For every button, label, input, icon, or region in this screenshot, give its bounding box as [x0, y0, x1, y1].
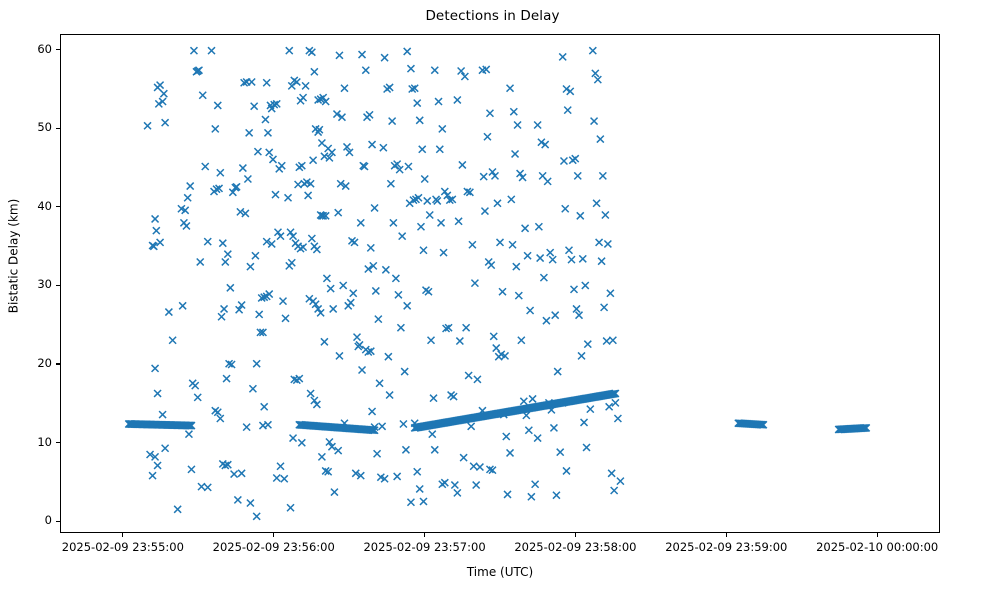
scatter-marker	[254, 148, 261, 155]
scatter-marker	[288, 259, 295, 266]
scatter-marker	[157, 239, 164, 246]
scatter-marker	[454, 489, 461, 496]
scatter-marker	[494, 200, 501, 207]
scatter-marker	[184, 194, 191, 201]
scatter-marker	[401, 368, 408, 375]
figure-canvas: Detections in Delay Bistatic Delay (km) …	[0, 0, 985, 590]
scatter-marker	[596, 239, 603, 246]
scatter-marker	[251, 103, 258, 110]
scatter-marker	[534, 435, 541, 442]
scatter-marker	[414, 468, 421, 475]
scatter-marker	[369, 141, 376, 148]
x-tick-mark	[877, 533, 878, 537]
scatter-marker	[323, 275, 330, 282]
scatter-marker	[280, 298, 287, 305]
scatter-marker	[272, 191, 279, 198]
scatter-marker	[612, 399, 619, 406]
scatter-marker	[295, 181, 302, 188]
scatter-marker	[399, 233, 406, 240]
scatter-marker	[253, 360, 260, 367]
scatter-marker	[385, 353, 392, 360]
scatter-marker	[395, 291, 402, 298]
scatter-marker	[611, 487, 618, 494]
scatter-marker	[509, 241, 516, 248]
scatter-marker	[481, 208, 488, 215]
scatter-marker	[157, 82, 164, 89]
scatter-marker	[227, 284, 234, 291]
scatter-marker	[389, 118, 396, 125]
scatter-marker	[430, 395, 437, 402]
scatter-marker	[277, 463, 284, 470]
scatter-marker	[471, 280, 478, 287]
scatter-marker	[252, 252, 259, 259]
scatter-marker	[537, 255, 544, 262]
scatter-marker	[598, 258, 605, 265]
scatter-marker	[149, 472, 156, 479]
scatter-marker	[315, 129, 322, 136]
scatter-marker	[223, 375, 230, 382]
scatter-marker	[425, 288, 432, 295]
scatter-marker	[243, 424, 250, 431]
scatter-marker	[154, 462, 161, 469]
x-tick-label: 2025-02-09 23:55:00	[62, 540, 184, 554]
scatter-marker	[565, 247, 572, 254]
scatter-marker	[608, 470, 615, 477]
scatter-marker	[583, 444, 590, 451]
scatter-marker	[436, 146, 443, 153]
scatter-marker	[484, 133, 491, 140]
y-tick-label: 40	[37, 199, 52, 213]
scatter-marker	[392, 275, 399, 282]
scatter-marker	[248, 78, 255, 85]
scatter-marker	[351, 239, 358, 246]
scatter-marker	[528, 493, 535, 500]
scatter-marker	[476, 464, 483, 471]
scatter-marker	[414, 100, 421, 107]
scatter-marker	[602, 212, 609, 219]
x-tick-label: 2025-02-09 23:57:00	[363, 540, 485, 554]
scatter-marker	[198, 483, 205, 490]
scatter-marker	[185, 431, 192, 438]
scatter-marker	[239, 165, 246, 172]
scatter-marker	[369, 408, 376, 415]
scatter-marker	[405, 163, 412, 170]
scatter-marker	[470, 463, 477, 470]
scatter-marker	[407, 499, 414, 506]
scatter-marker	[507, 449, 514, 456]
scatter-marker	[347, 299, 354, 306]
scatter-marker	[331, 489, 338, 496]
y-tick-label: 60	[37, 42, 52, 56]
scatter-marker	[359, 366, 366, 373]
scatter-marker	[493, 345, 500, 352]
scatter-marker	[473, 482, 480, 489]
scatter-marker	[153, 227, 160, 234]
scatter-marker	[552, 312, 559, 319]
scatter-marker	[298, 162, 305, 169]
scatter-marker	[386, 392, 393, 399]
scatter-marker	[244, 176, 251, 183]
scatter-marker	[604, 240, 611, 247]
scatter-marker	[499, 288, 506, 295]
scatter-marker	[354, 334, 361, 341]
scatter-marker	[424, 197, 431, 204]
scatter-marker	[217, 169, 224, 176]
scatter-marker	[364, 114, 371, 121]
x-tick-mark	[122, 533, 123, 537]
scatter-marker	[520, 398, 527, 405]
scatter-marker	[217, 415, 224, 422]
scatter-marker	[486, 110, 493, 117]
scatter-marker	[269, 156, 276, 163]
scatter-marker	[387, 180, 394, 187]
scatter-marker	[282, 315, 289, 322]
scatter-marker	[192, 382, 199, 389]
scatter-marker	[154, 390, 161, 397]
scatter-marker	[463, 324, 470, 331]
scatter-marker	[564, 107, 571, 114]
scatter-marker	[540, 274, 547, 281]
scatter-marker	[379, 423, 386, 430]
scatter-marker	[560, 158, 567, 165]
y-tick-label: 10	[37, 435, 52, 449]
scatter-marker	[440, 249, 447, 256]
scatter-marker	[152, 365, 159, 372]
scatter-marker	[404, 48, 411, 55]
scatter-marker	[553, 492, 560, 499]
scatter-marker	[384, 86, 391, 93]
scatter-marker	[214, 102, 221, 109]
scatter-marker	[400, 421, 407, 428]
scatter-marker	[591, 118, 598, 125]
scatter-marker	[451, 482, 458, 489]
scatter-marker	[497, 239, 504, 246]
scatter-marker	[222, 258, 229, 265]
scatter-marker	[407, 65, 414, 72]
scatter-marker	[534, 122, 541, 129]
scatter-marker	[404, 302, 411, 309]
scatter-marker	[504, 491, 511, 498]
scatter-marker	[601, 304, 608, 311]
scatter-marker	[527, 307, 534, 314]
scatter-marker	[197, 258, 204, 265]
scatter-marker	[212, 125, 219, 132]
scatter-marker	[165, 309, 172, 316]
scatter-marker	[529, 395, 536, 402]
scatter-marker	[350, 290, 357, 297]
scatter-marker	[214, 409, 221, 416]
scatter-marker	[246, 129, 253, 136]
x-tick-label: 2025-02-09 23:56:00	[213, 540, 335, 554]
scatter-marker	[428, 337, 435, 344]
x-tick-mark	[726, 533, 727, 537]
scatter-marker	[183, 222, 190, 229]
scatter-marker	[480, 173, 487, 180]
scatter-marker	[568, 256, 575, 263]
scatter-marker	[603, 338, 610, 345]
scatter-marker	[302, 82, 309, 89]
scatter-marker	[238, 470, 245, 477]
scatter-marker	[266, 149, 273, 156]
scatter-marker	[187, 183, 194, 190]
scatter-marker	[431, 446, 438, 453]
scatter-marker	[420, 498, 427, 505]
scatter-marker	[503, 433, 510, 440]
scatter-marker	[578, 352, 585, 359]
y-axis-ticks: 0102030405060	[0, 34, 60, 533]
scatter-marker	[426, 212, 433, 219]
scatter-marker	[202, 163, 209, 170]
scatter-marker	[308, 49, 315, 56]
scatter-marker	[420, 247, 427, 254]
scatter-marker	[507, 85, 514, 92]
y-tick-label: 20	[37, 356, 52, 370]
scatter-marker	[199, 92, 206, 99]
scatter-marker	[247, 500, 254, 507]
scatter-marker	[310, 157, 317, 164]
scatter-marker	[429, 431, 436, 438]
scatter-marker	[563, 467, 570, 474]
scatter-marker	[456, 338, 463, 345]
scatter-marker	[573, 305, 580, 312]
scatter-marker	[335, 447, 342, 454]
chart-title: Detections in Delay	[0, 8, 985, 24]
scatter-marker	[179, 302, 186, 309]
scatter-marker	[162, 445, 169, 452]
scatter-marker	[574, 172, 581, 179]
scatter-marker	[469, 241, 476, 248]
scatter-marker	[249, 385, 256, 392]
scatter-marker	[160, 90, 167, 97]
scatter-marker	[264, 421, 271, 428]
scatter-marker	[609, 337, 616, 344]
scatter-marker	[547, 249, 554, 256]
scatter-marker	[510, 108, 517, 115]
scatter-marker	[256, 311, 263, 318]
scatter-marker	[311, 68, 318, 75]
scatter-marker	[162, 119, 169, 126]
scatter-marker	[614, 415, 621, 422]
scatter-marker	[390, 219, 397, 226]
scatter-marker	[450, 393, 457, 400]
scatter-marker	[607, 290, 614, 297]
scatter-marker	[313, 246, 320, 253]
scatter-marker	[416, 485, 423, 492]
scatter-marker	[522, 225, 529, 232]
scatter-marker	[287, 504, 294, 511]
scatter-marker	[152, 215, 159, 222]
scatter-marker	[159, 411, 166, 418]
scatter-marker	[174, 506, 181, 513]
scatter-marker	[262, 116, 269, 123]
scatter-marker	[234, 496, 241, 503]
scatter-marker	[318, 453, 325, 460]
x-tick-label: 2025-02-09 23:59:00	[665, 540, 787, 554]
y-tick-label: 0	[45, 513, 52, 527]
scatter-marker	[599, 172, 606, 179]
scatter-marker	[593, 200, 600, 207]
scatter-marker	[308, 235, 315, 242]
scatter-marker	[584, 341, 591, 348]
x-tick-label: 2025-02-09 23:58:00	[514, 540, 636, 554]
scatter-marker	[402, 446, 409, 453]
scatter-marker	[549, 256, 556, 263]
scatter-marker	[455, 218, 462, 225]
scatter-marker	[219, 240, 226, 247]
scatter-marker	[336, 352, 343, 359]
scatter-marker	[376, 380, 383, 387]
scatter-marker	[341, 85, 348, 92]
scatter-marker	[286, 47, 293, 54]
scatter-marker	[543, 317, 550, 324]
scatter-marker	[298, 439, 305, 446]
scatter-marker	[278, 162, 285, 169]
scatter-marker	[460, 454, 467, 461]
scatter-marker	[305, 192, 312, 199]
scatter-marker	[535, 223, 542, 230]
scatter-marker	[296, 375, 303, 382]
scatter-marker	[144, 122, 151, 129]
scatter-marker	[285, 194, 292, 201]
scatter-marker	[439, 125, 446, 132]
scatter-marker	[204, 238, 211, 245]
scatter-marker	[169, 337, 176, 344]
scatter-marker	[359, 51, 366, 58]
scatter-marker	[490, 333, 497, 340]
scatter-marker	[281, 475, 288, 482]
scatter-marker	[335, 209, 342, 216]
scatter-marker	[327, 285, 334, 292]
scatter-marker	[435, 98, 442, 105]
scatter-marker	[524, 252, 531, 259]
scatter-marker	[576, 312, 583, 319]
scatter-marker	[465, 372, 472, 379]
scatter-marker	[572, 155, 579, 162]
scatter-marker	[367, 244, 374, 251]
scatter-marker	[562, 205, 569, 212]
scatter-marker	[300, 94, 307, 101]
scatter-marker	[557, 449, 564, 456]
scatter-marker	[559, 53, 566, 60]
scatter-marker	[290, 435, 297, 442]
scatter-marker	[525, 427, 532, 434]
scatter-marker	[550, 424, 557, 431]
scatter-marker	[253, 513, 260, 520]
scatter-marker	[188, 466, 195, 473]
scatter-marker	[532, 481, 539, 488]
y-tick-label: 30	[37, 277, 52, 291]
x-tick-mark	[273, 533, 274, 537]
scatter-marker	[190, 47, 197, 54]
plot-area	[60, 34, 940, 533]
scatter-marker	[592, 70, 599, 77]
scatter-marker	[336, 52, 343, 59]
scatter-marker	[307, 390, 314, 397]
scatter-marker	[218, 313, 225, 320]
scatter-marker	[261, 403, 268, 410]
scatter-marker	[438, 219, 445, 226]
scatter-marker	[300, 244, 307, 251]
scatter-marker	[224, 251, 231, 258]
scatter-marker	[459, 161, 466, 168]
scatter-marker	[512, 150, 519, 157]
scatter-marker	[594, 76, 601, 83]
scatter-marker	[441, 479, 448, 486]
scatter-marker	[397, 324, 404, 331]
scatter-marker	[513, 263, 520, 270]
scatter-marker	[544, 178, 551, 185]
scatter-marker	[380, 144, 387, 151]
scatter-marker	[421, 176, 428, 183]
scatter-marker	[194, 394, 201, 401]
scatter-marker	[357, 219, 364, 226]
scatter-marker	[571, 286, 578, 293]
scatter-marker	[362, 67, 369, 74]
scatter-marker	[382, 266, 389, 273]
scatter-marker	[518, 337, 525, 344]
scatter-marker	[582, 282, 589, 289]
scatter-marker	[273, 475, 280, 482]
scatter-points-layer	[61, 35, 939, 532]
scatter-marker	[554, 368, 561, 375]
scatter-marker	[597, 136, 604, 143]
scatter-marker	[371, 204, 378, 211]
scatter-marker	[617, 478, 624, 485]
scatter-marker	[514, 122, 521, 129]
scatter-marker	[204, 484, 211, 491]
scatter-marker	[375, 316, 382, 323]
scatter-marker	[263, 79, 270, 86]
scatter-marker	[221, 305, 228, 312]
x-axis-label: Time (UTC)	[60, 565, 940, 579]
scatter-marker	[372, 287, 379, 294]
scatter-marker	[581, 419, 588, 426]
scatter-marker	[468, 423, 475, 430]
scatter-marker	[508, 196, 515, 203]
scatter-marker	[321, 338, 328, 345]
x-tick-mark	[575, 533, 576, 537]
scatter-marker	[515, 292, 522, 299]
scatter-marker	[394, 473, 401, 480]
scatter-marker	[416, 117, 423, 124]
scatter-marker	[374, 450, 381, 457]
x-tick-mark	[424, 533, 425, 537]
scatter-marker	[264, 129, 271, 136]
scatter-marker	[431, 67, 438, 74]
scatter-marker	[454, 96, 461, 103]
scatter-marker	[330, 305, 337, 312]
scatter-marker	[417, 223, 424, 230]
scatter-marker	[247, 263, 254, 270]
scatter-marker	[587, 406, 594, 413]
scatter-marker	[419, 146, 426, 153]
scatter-marker	[606, 403, 613, 410]
scatter-marker	[208, 47, 215, 54]
scatter-marker	[381, 54, 388, 61]
scatter-marker	[589, 47, 596, 54]
scatter-marker	[293, 78, 300, 85]
x-tick-label: 2025-02-10 00:00:00	[816, 540, 938, 554]
scatter-marker	[474, 376, 481, 383]
y-tick-label: 50	[37, 120, 52, 134]
scatter-marker	[231, 471, 238, 478]
scatter-marker	[488, 262, 495, 269]
scatter-marker	[340, 282, 347, 289]
scatter-marker	[579, 255, 586, 262]
scatter-marker	[577, 212, 584, 219]
